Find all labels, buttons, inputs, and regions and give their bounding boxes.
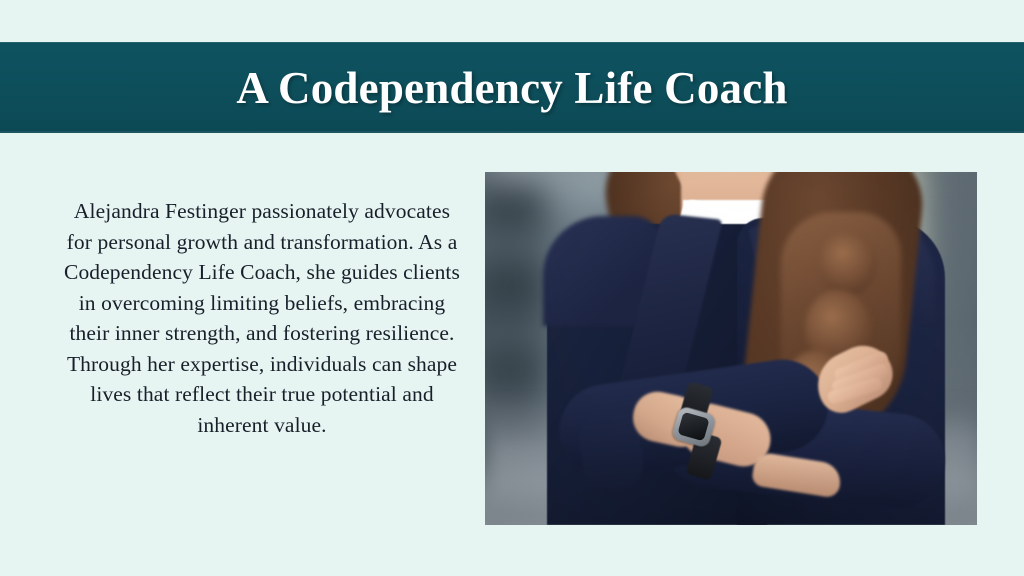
page-title: A Codependency Life Coach: [0, 42, 1024, 133]
body-paragraph: Alejandra Festinger passionately advocat…: [62, 196, 462, 440]
portrait-photo: [485, 172, 977, 525]
photo-subject-figure: [485, 172, 977, 525]
title-band: A Codependency Life Coach: [0, 42, 1024, 133]
hair-curl: [819, 230, 877, 296]
slide-canvas: A Codependency Life Coach Alejandra Fest…: [0, 0, 1024, 576]
